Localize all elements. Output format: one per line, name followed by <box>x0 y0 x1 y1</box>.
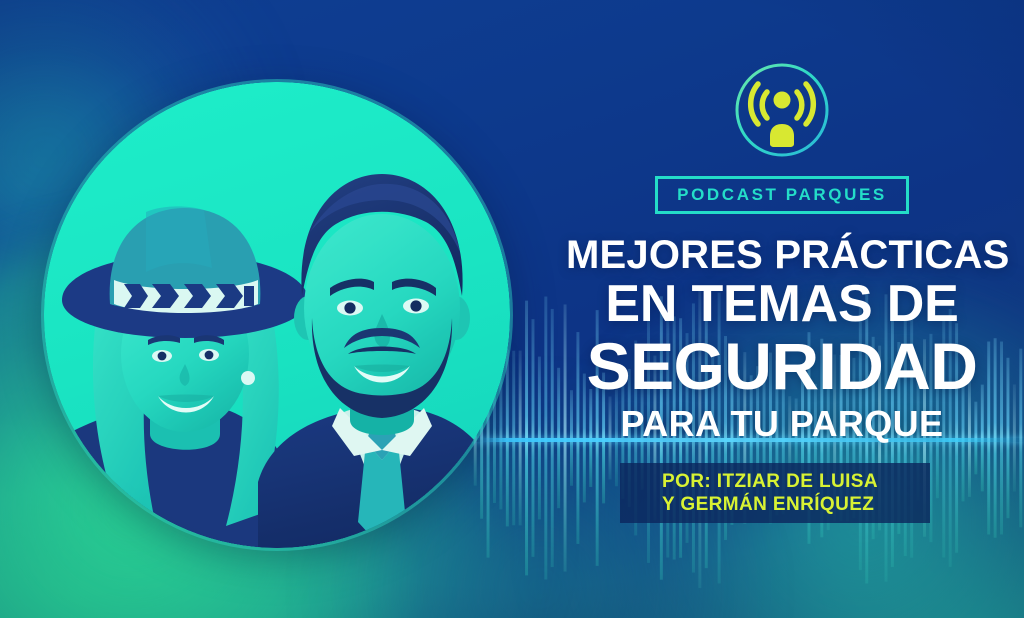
title-line-4: PARA TU PARQUE <box>566 405 998 443</box>
hosts-duotone-portrait <box>44 82 510 548</box>
hosts-photo-circle <box>44 82 510 548</box>
title-line-2: EN TEMAS DE <box>566 278 998 331</box>
podcast-badge-label: PODCAST PARQUES <box>677 185 887 205</box>
podcast-microphone-icon <box>734 62 830 158</box>
cover-title: MEJORES PRÁCTICAS EN TEMAS DE SEGURIDAD … <box>566 234 998 443</box>
podcast-badge: PODCAST PARQUES <box>655 176 909 214</box>
credits-line-1: POR: ITZIAR DE LUISA <box>662 470 930 493</box>
title-line-1: MEJORES PRÁCTICAS <box>566 234 998 276</box>
credits-line-2: Y GERMÁN ENRÍQUEZ <box>662 493 930 516</box>
credits-box: POR: ITZIAR DE LUISA Y GERMÁN ENRÍQUEZ <box>620 463 930 523</box>
podcast-cover-image: PODCAST PARQUES MEJORES PRÁCTICAS EN TEM… <box>0 0 1024 618</box>
title-line-3: SEGURIDAD <box>566 333 998 399</box>
cover-right-column: PODCAST PARQUES MEJORES PRÁCTICAS EN TEM… <box>566 62 998 443</box>
